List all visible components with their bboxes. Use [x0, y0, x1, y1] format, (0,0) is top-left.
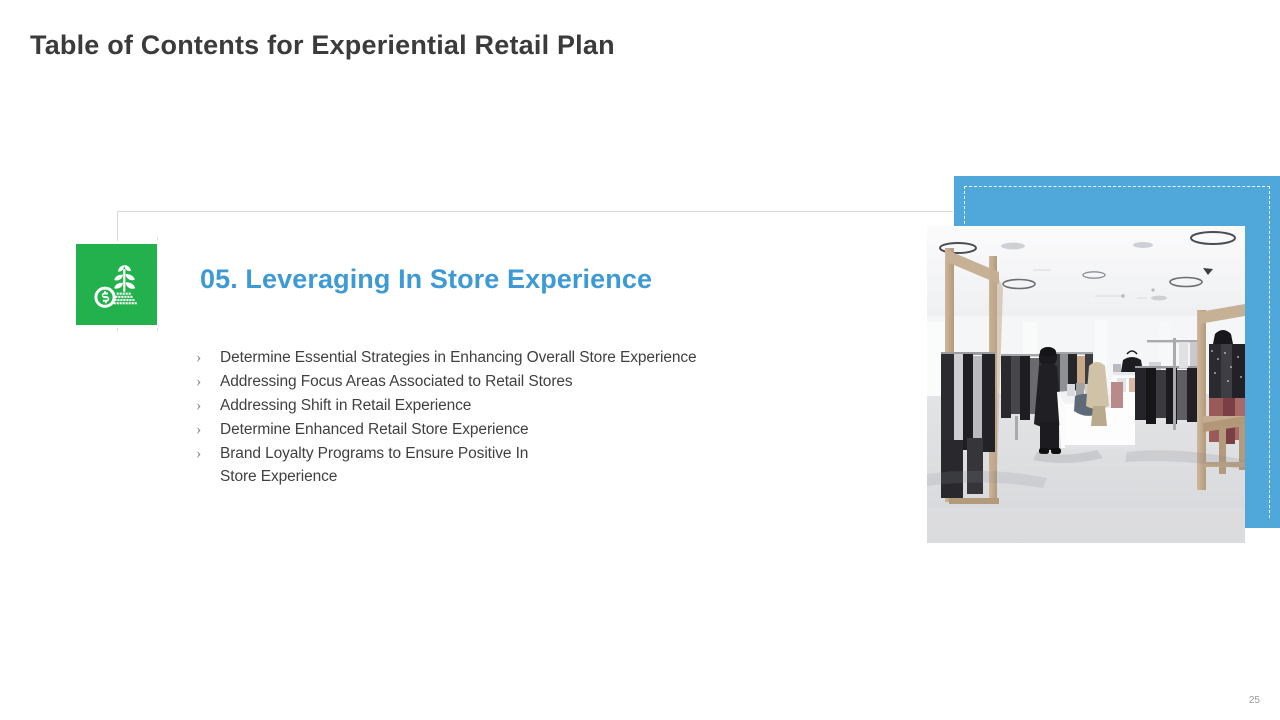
chevron-right-icon: ›	[196, 442, 220, 465]
section-bullet-list: › Determine Essential Strategies in Enha…	[196, 346, 836, 489]
chevron-right-icon: ›	[196, 370, 220, 393]
list-item: › Addressing Focus Areas Associated to R…	[196, 370, 836, 393]
page-title: Table of Contents for Experiential Retai…	[30, 30, 615, 61]
retail-store-photo	[927, 226, 1245, 543]
chevron-right-icon: ›	[196, 418, 220, 441]
list-item: › Determine Enhanced Retail Store Experi…	[196, 418, 836, 441]
list-item-label: Determine Enhanced Retail Store Experien…	[220, 418, 529, 441]
chevron-right-icon: ›	[196, 394, 220, 417]
page-number: 25	[1249, 695, 1260, 706]
list-item: › Brand Loyalty Programs to Ensure Posit…	[196, 442, 836, 488]
chevron-right-icon: ›	[196, 346, 220, 369]
list-item: › Determine Essential Strategies in Enha…	[196, 346, 836, 369]
list-item-label: Addressing Shift in Retail Experience	[220, 394, 471, 417]
list-item: › Addressing Shift in Retail Experience	[196, 394, 836, 417]
section-icon-tile	[76, 244, 157, 325]
list-item-label: Brand Loyalty Programs to Ensure Positiv…	[220, 442, 528, 488]
list-item-label: Addressing Focus Areas Associated to Ret…	[220, 370, 573, 393]
list-item-label: Determine Essential Strategies in Enhanc…	[220, 346, 697, 369]
content-frame-inner-edge	[157, 237, 187, 331]
section-heading: 05. Leveraging In Store Experience	[200, 264, 652, 295]
money-plant-growth-icon	[89, 257, 145, 313]
